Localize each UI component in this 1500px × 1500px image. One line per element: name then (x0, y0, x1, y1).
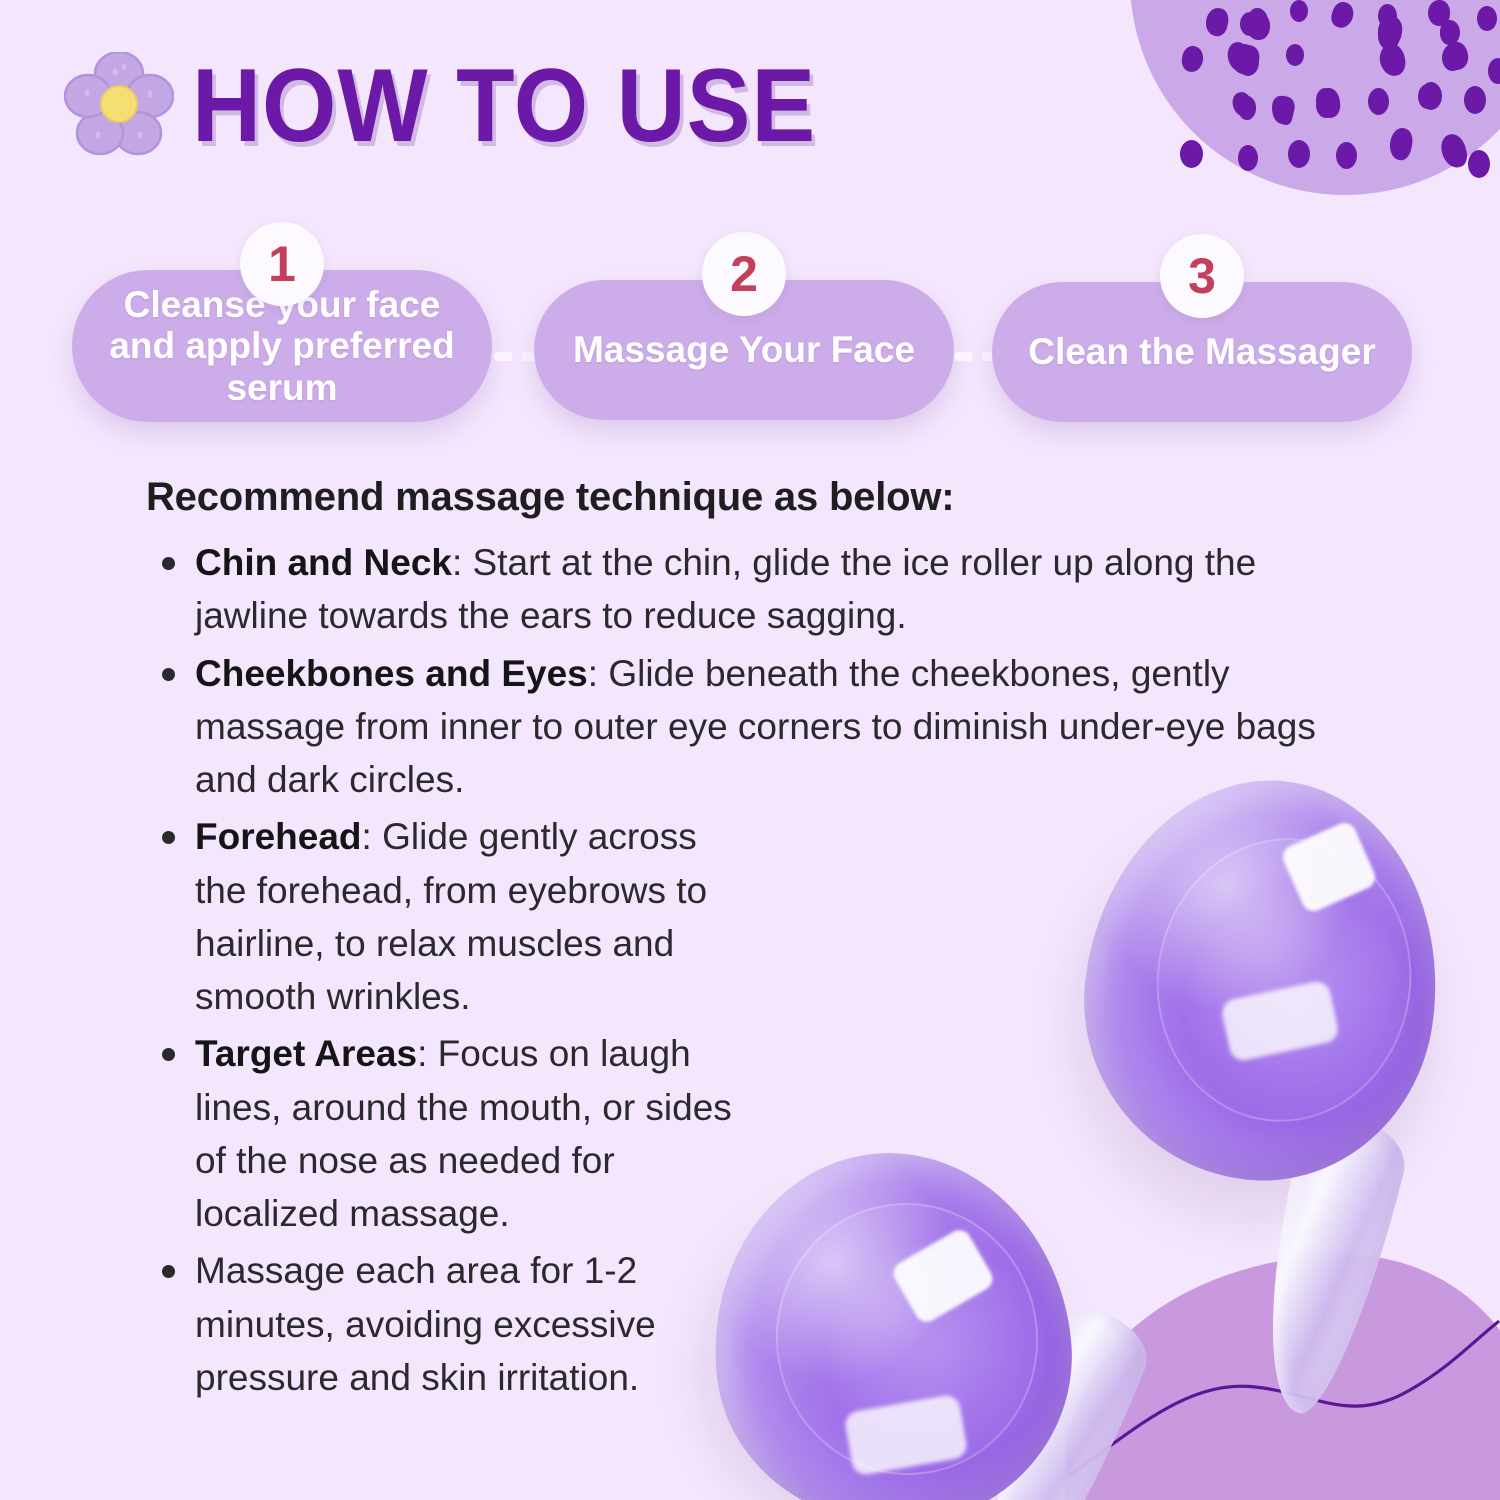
confetti-dot (1418, 84, 1437, 109)
confetti-dot (1464, 86, 1486, 114)
confetti-dot (1488, 58, 1500, 84)
list-item: Forehead: Glide gently across the forehe… (146, 810, 755, 1023)
step-1[interactable]: 1 Cleanse your face and apply preferred … (72, 270, 492, 422)
steps-row: 1 Cleanse your face and apply preferred … (72, 222, 1422, 442)
confetti-dot (1225, 40, 1253, 74)
confetti-dot (1286, 44, 1304, 66)
list-item: Target Areas: Focus on laugh lines, arou… (146, 1027, 755, 1240)
list-item: Chin and Neck: Start at the chin, glide … (146, 536, 1376, 643)
confetti-dot (1238, 96, 1256, 120)
step-3-label: Clean the Massager (1014, 331, 1390, 372)
confetti-dot (1234, 45, 1256, 73)
confetti-dot (1246, 7, 1269, 36)
confetti-dot (1238, 96, 1256, 120)
step-2-label: Massage Your Face (559, 329, 929, 370)
confetti-dot (1232, 46, 1254, 74)
confetti-dot (1378, 4, 1397, 28)
confetti-dot (1238, 145, 1258, 171)
confetti-dot (1441, 40, 1471, 73)
confetti-dot (1232, 42, 1262, 76)
tip-label: Chin and Neck (195, 542, 452, 583)
confetti-dot (1237, 48, 1259, 76)
confetti-dot (1368, 88, 1389, 115)
step-1-number-badge: 1 (240, 222, 324, 306)
page-header: HOW TO USE (64, 52, 870, 160)
confetti-dot (1428, 0, 1450, 26)
step-3-pill[interactable]: 3 Clean the Massager (992, 282, 1412, 422)
confetti-dot (1247, 13, 1270, 40)
tip-label: Massage each area for 1-2 minutes, avoid… (195, 1250, 656, 1398)
confetti-dot (1377, 42, 1407, 78)
confetti-dot (1272, 96, 1290, 122)
confetti-dot (1378, 22, 1400, 50)
list-item: Cheekbones and Eyes: Glide beneath the c… (146, 647, 1376, 807)
confetti-dot (1234, 44, 1255, 71)
instructions-heading: Recommend massage technique as below: (146, 474, 1376, 520)
technique-list: Chin and Neck: Start at the chin, glide … (146, 536, 1376, 1404)
confetti-dot (1387, 126, 1415, 162)
step-2-pill[interactable]: 2 Massage Your Face (534, 280, 954, 420)
confetti-dot (1316, 88, 1334, 112)
confetti-dot (1203, 6, 1230, 38)
confetti-dot (1180, 140, 1203, 168)
list-item: Massage each area for 1-2 minutes, avoid… (146, 1244, 715, 1404)
page-title: HOW TO USE (192, 54, 816, 158)
confetti-dot (1440, 20, 1460, 45)
step-2-number-badge: 2 (702, 232, 786, 316)
step-3-number-badge: 3 (1160, 234, 1244, 318)
instructions-block: Recommend massage technique as below: Ch… (146, 474, 1376, 1408)
infographic-canvas: HOW TO USE 1 Cleanse your face and apply… (0, 0, 1500, 1500)
confetti-dot (1232, 44, 1255, 74)
confetti-dot (1240, 12, 1260, 36)
confetti-dot (1376, 14, 1404, 47)
confetti-dot (1336, 142, 1357, 169)
confetti-dot (1316, 92, 1336, 118)
confetti-dot (1288, 140, 1310, 168)
confetti-dot (1328, 0, 1356, 31)
confetti-dot (1234, 46, 1256, 74)
step-2[interactable]: 2 Massage Your Face (534, 280, 954, 420)
top-right-blob (1130, 0, 1500, 195)
confetti-dot (1290, 0, 1308, 22)
step-1-pill[interactable]: 1 Cleanse your face and apply preferred … (72, 270, 492, 422)
tip-label: Cheekbones and Eyes (195, 653, 588, 694)
flower-icon (64, 52, 174, 160)
confetti-dot (1180, 44, 1205, 73)
confetti-dot (1438, 131, 1470, 170)
tip-label: Forehead (195, 816, 362, 857)
confetti-dot (1316, 87, 1342, 120)
confetti-dot (1477, 6, 1497, 31)
confetti-dot (1442, 44, 1463, 71)
confetti-dot (1420, 82, 1442, 110)
tip-label: Target Areas (195, 1033, 417, 1074)
confetti-dot (1230, 90, 1255, 119)
confetti-dot (1468, 150, 1490, 178)
step-3[interactable]: 3 Clean the Massager (992, 282, 1412, 422)
confetti-dot (1269, 94, 1297, 126)
